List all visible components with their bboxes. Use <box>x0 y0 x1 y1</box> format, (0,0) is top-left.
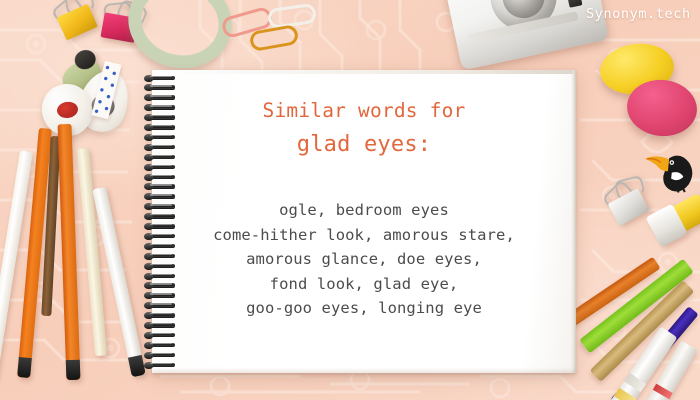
brand-watermark: Synonym.tech <box>586 6 691 22</box>
synonym-line: come-hither look, amorous stare, <box>164 223 564 248</box>
synonym-line: goo-goo eyes, longing eye <box>164 296 564 321</box>
synonym-line: amorous glance, doe eyes, <box>164 247 564 272</box>
notepad-content: Similar words for glad eyes: ogle, bedro… <box>152 70 576 373</box>
page-title: Similar words for <box>182 99 546 122</box>
synonym-list: ogle, bedroom eyes come-hither look, amo… <box>164 198 564 321</box>
synonym-line: ogle, bedroom eyes <box>164 198 564 223</box>
toucan-sticker-icon <box>636 145 696 195</box>
screenshot-stage: Similar words for glad eyes: ogle, bedro… <box>0 0 700 400</box>
subject-term: glad eyes: <box>182 132 546 157</box>
synonym-line: fond look, glad eye, <box>164 272 564 297</box>
